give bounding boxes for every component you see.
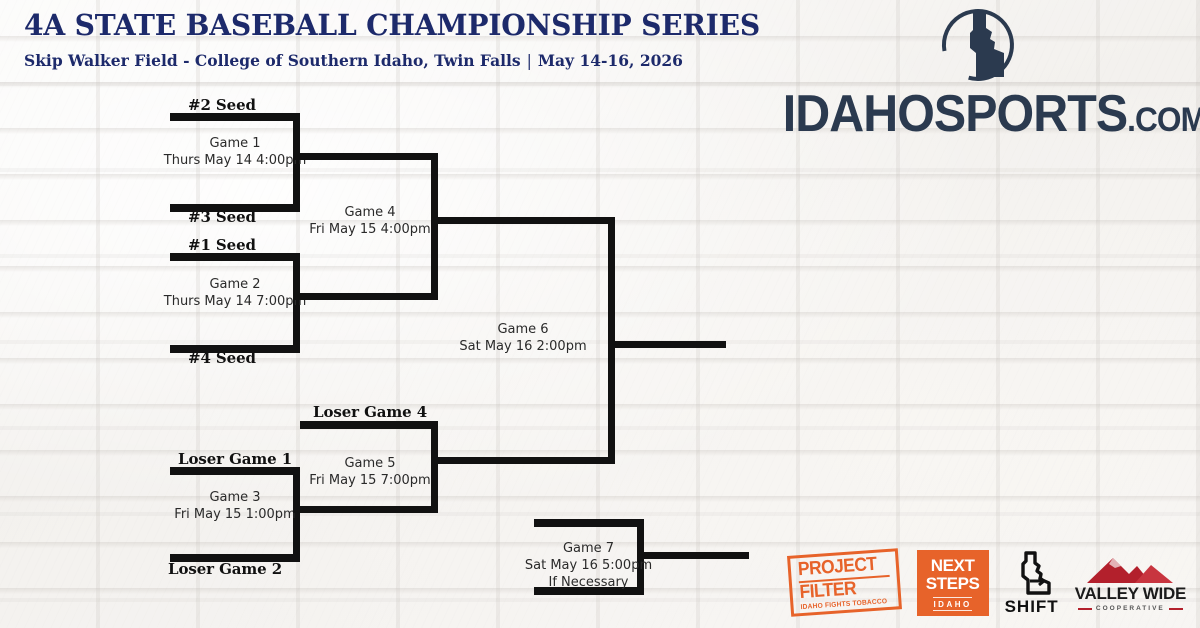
event-header: 4A STATE BASEBALL CHAMPIONSHIP SERIES Sk… bbox=[24, 8, 783, 70]
game-1-name: Game 1 bbox=[160, 136, 310, 153]
event-dates: May 14-16, 2026 bbox=[538, 51, 683, 70]
game-7-note: If Necessary bbox=[516, 575, 661, 592]
event-venue-and-dates: Skip Walker Field - College of Southern … bbox=[24, 51, 783, 70]
valley-wide-sub-row: COOPERATIVE bbox=[1078, 605, 1183, 612]
slot-label-loser-game-4: Loser Game 4 bbox=[313, 403, 427, 421]
valley-wide-subtitle: COOPERATIVE bbox=[1096, 605, 1165, 612]
bracket-game-7-winner-line bbox=[637, 552, 749, 559]
page-title: 4A STATE BASEBALL CHAMPIONSHIP SERIES bbox=[24, 8, 760, 42]
sponsor-row: PROJECT FILTER IDAHO FIGHTS TOBACCO NEXT… bbox=[789, 546, 1186, 620]
slot-label-seed-1: #1 Seed bbox=[188, 236, 256, 254]
bracket-feed-game-5-to-game-6 bbox=[431, 457, 615, 464]
slot-label-seed-3: #3 Seed bbox=[188, 208, 256, 226]
subtitle-separator: | bbox=[527, 52, 532, 70]
brand-logo[interactable]: IDAHOSPORTS.COM bbox=[768, 6, 1188, 140]
game-label-game-3: Game 3 Fri May 15 1:00pm bbox=[160, 490, 310, 524]
event-venue: Skip Walker Field - College of Southern … bbox=[24, 51, 521, 70]
game-label-game-5: Game 5 Fri May 15 7:00pm bbox=[295, 456, 445, 490]
game-4-time: Fri May 15 4:00pm bbox=[295, 222, 445, 239]
game-label-game-6: Game 6 Sat May 16 2:00pm bbox=[433, 322, 613, 356]
shift-wordmark: SHIFT bbox=[1005, 597, 1059, 617]
brand-wordmark: IDAHOSPORTS.COM bbox=[783, 88, 1174, 140]
valley-wide-name: VALLEY WIDE bbox=[1075, 585, 1186, 602]
brand-name-sports: SPORTS bbox=[934, 85, 1127, 143]
game-5-name: Game 5 bbox=[295, 456, 445, 473]
game-6-time: Sat May 16 2:00pm bbox=[433, 339, 613, 356]
bracket-line-seed-2 bbox=[170, 113, 300, 121]
game-2-name: Game 2 bbox=[160, 277, 310, 294]
bracket-line-loser-game-4 bbox=[300, 421, 438, 429]
valley-wide-dash-left bbox=[1078, 608, 1092, 610]
mountain-icon bbox=[1077, 554, 1183, 584]
bracket-feed-game-1-to-game-4 bbox=[293, 153, 438, 160]
brand-name-tld: .COM bbox=[1127, 101, 1200, 139]
slot-label-seed-4: #4 Seed bbox=[188, 349, 256, 367]
next-steps-line3: IDAHO bbox=[933, 597, 971, 611]
bracket-feed-game-4-to-game-6 bbox=[431, 217, 615, 224]
game-label-game-2: Game 2 Thurs May 14 7:00pm bbox=[160, 277, 310, 311]
sponsor-valley-wide[interactable]: VALLEY WIDE COOPERATIVE bbox=[1075, 554, 1186, 612]
game-3-time: Fri May 15 1:00pm bbox=[160, 507, 310, 524]
game-3-name: Game 3 bbox=[160, 490, 310, 507]
sponsor-shift[interactable]: SHIFT bbox=[1005, 550, 1059, 617]
bracket-line-seed-1 bbox=[170, 253, 300, 261]
idaho-outline-arrow-icon bbox=[1010, 550, 1054, 596]
game-label-game-7: Game 7 Sat May 16 5:00pm If Necessary bbox=[516, 541, 661, 592]
game-5-time: Fri May 15 7:00pm bbox=[295, 473, 445, 490]
game-label-game-4: Game 4 Fri May 15 4:00pm bbox=[295, 205, 445, 239]
game-6-name: Game 6 bbox=[433, 322, 613, 339]
game-4-name: Game 4 bbox=[295, 205, 445, 222]
sponsor-project-filter[interactable]: PROJECT FILTER IDAHO FIGHTS TOBACCO bbox=[787, 549, 902, 618]
game-label-game-1: Game 1 Thurs May 14 4:00pm bbox=[160, 136, 310, 170]
bracket-champion-line bbox=[608, 341, 726, 348]
bracket-line-loser-game-1 bbox=[170, 467, 300, 475]
sponsor-next-steps-idaho[interactable]: NEXT STEPS IDAHO bbox=[917, 550, 989, 616]
bracket-line-game-7-top bbox=[534, 519, 644, 527]
slot-label-seed-2: #2 Seed bbox=[188, 96, 256, 114]
valley-wide-dash-right bbox=[1169, 608, 1183, 610]
game-1-time: Thurs May 14 4:00pm bbox=[160, 153, 310, 170]
brand-name-idaho: IDAHO bbox=[783, 85, 934, 143]
bracket-feed-game-3-to-game-5 bbox=[293, 506, 438, 513]
idaho-state-in-circle-icon bbox=[932, 6, 1024, 86]
slot-label-loser-game-2: Loser Game 2 bbox=[168, 560, 282, 578]
slot-label-loser-game-1: Loser Game 1 bbox=[178, 450, 292, 468]
next-steps-line1: NEXT bbox=[931, 557, 975, 574]
bracket-feed-game-2-to-game-4 bbox=[293, 293, 438, 300]
game-2-time: Thurs May 14 7:00pm bbox=[160, 294, 310, 311]
next-steps-line2: STEPS bbox=[926, 575, 980, 592]
game-7-time: Sat May 16 5:00pm bbox=[516, 558, 661, 575]
